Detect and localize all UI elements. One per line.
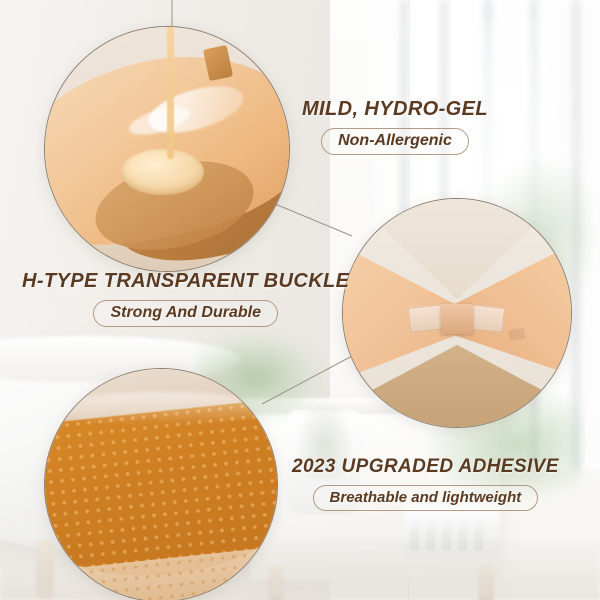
product-photo-hydro-gel — [44, 26, 290, 272]
callout-hydro-gel: MILD, HYDRO-GEL Non-Allergenic — [302, 98, 488, 155]
callout-headline-buckle: H-TYPE TRANSPARENT BUCKLE — [22, 270, 349, 293]
gel-stream — [167, 26, 174, 159]
callout-buckle: H-TYPE TRANSPARENT BUCKLE Strong And Dur… — [22, 270, 349, 327]
gel-puddle — [121, 149, 204, 195]
h-type-buckle — [441, 304, 473, 334]
callout-headline-adhesive: 2023 UPGRADED ADHESIVE — [292, 456, 559, 478]
surface-gloss — [54, 392, 267, 424]
callout-adhesive: 2023 UPGRADED ADHESIVE Breathable and li… — [292, 456, 559, 511]
infographic-canvas: MILD, HYDRO-GEL Non-Allergenic H-TYPE TR… — [0, 0, 600, 600]
product-photo-buckle — [342, 198, 572, 428]
product-photo-adhesive — [44, 368, 278, 600]
callout-pill-buckle: Strong And Durable — [93, 300, 278, 327]
buckle-strap-right — [467, 304, 506, 333]
callout-pill-adhesive: Breathable and lightweight — [313, 485, 539, 511]
callout-headline-hydro-gel: MILD, HYDRO-GEL — [302, 98, 488, 121]
callout-pill-hydro-gel: Non-Allergenic — [321, 128, 469, 155]
